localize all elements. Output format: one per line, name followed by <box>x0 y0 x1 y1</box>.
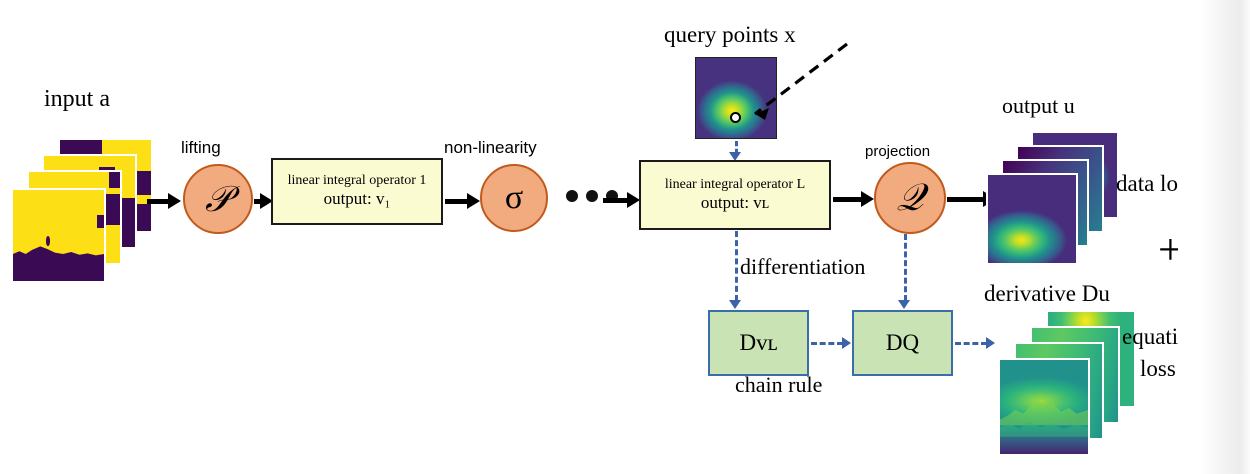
plus-sign: + <box>1158 224 1183 275</box>
equation-loss-label-line2: loss <box>1140 356 1176 382</box>
nonlinearity-label: non-linearity <box>444 138 537 158</box>
dashed-dq-to-derivative <box>955 342 987 345</box>
input-field-1 <box>13 190 104 281</box>
output-label: output u <box>1002 93 1075 119</box>
dashed-dq-arrowhead <box>898 300 910 309</box>
ellipsis-dot-2 <box>586 190 598 202</box>
operator1-title: linear integral operator 1 <box>288 173 427 189</box>
dashed-operatorL-to-dvl <box>735 231 738 301</box>
operator1-output: output: v₁ <box>324 189 391 209</box>
nonlinearity-operator-symbol: σ <box>505 179 523 217</box>
data-loss-label: data loss <box>1116 171 1196 197</box>
input-stack <box>10 138 160 283</box>
lifting-label: lifting <box>181 138 221 158</box>
dashed-chain-rule <box>811 342 843 345</box>
derivative-sheet-1 <box>998 358 1090 456</box>
linear-integral-operator-1-box[interactable]: linear integral operator 1 output: v₁ <box>271 158 443 225</box>
input-sheet-1 <box>11 188 106 283</box>
output-sheet-1 <box>986 173 1078 265</box>
lifting-operator-circle[interactable]: 𝒫 <box>183 164 253 234</box>
input-label: input a <box>44 86 110 113</box>
derivative-stack <box>998 310 1138 460</box>
operatorL-output: output: vʟ <box>701 193 769 213</box>
output-field-1 <box>988 175 1076 263</box>
lifting-operator-symbol: 𝒫 <box>205 178 231 221</box>
operatorL-title: linear integral operator L <box>665 177 805 193</box>
page-edge-shadow <box>1178 0 1250 474</box>
ellipsis-dot-1 <box>566 190 578 202</box>
projection-operator-symbol: 𝒬 <box>896 176 923 220</box>
dashed-derivative-arrowhead <box>986 337 995 349</box>
diagram-canvas: input a <box>0 0 1250 474</box>
dashed-dvl-arrowhead <box>729 300 741 309</box>
derivative-label: derivative Du <box>984 281 1110 307</box>
linear-integral-operator-L-box[interactable]: linear integral operator L output: vʟ <box>639 160 831 230</box>
d-vl-label: Dvʟ <box>740 330 778 356</box>
output-stack <box>986 131 1121 261</box>
dashed-chain-arrowhead <box>842 337 851 349</box>
equation-loss-label-line1: equation <box>1122 324 1201 350</box>
derivative-field-1 <box>1000 360 1088 454</box>
query-pointer-line <box>735 40 855 130</box>
d-vl-box[interactable]: Dvʟ <box>708 310 809 376</box>
projection-operator-circle[interactable]: 𝒬 <box>874 162 946 234</box>
chain-rule-label: chain rule <box>735 372 822 398</box>
projection-label: projection <box>865 143 930 160</box>
nonlinearity-operator-circle[interactable]: σ <box>480 164 548 232</box>
d-q-box[interactable]: DQ <box>852 310 953 376</box>
differentiation-label: differentiation <box>740 254 865 280</box>
d-q-label: DQ <box>886 330 919 356</box>
dashed-projection-to-dq <box>904 234 907 301</box>
